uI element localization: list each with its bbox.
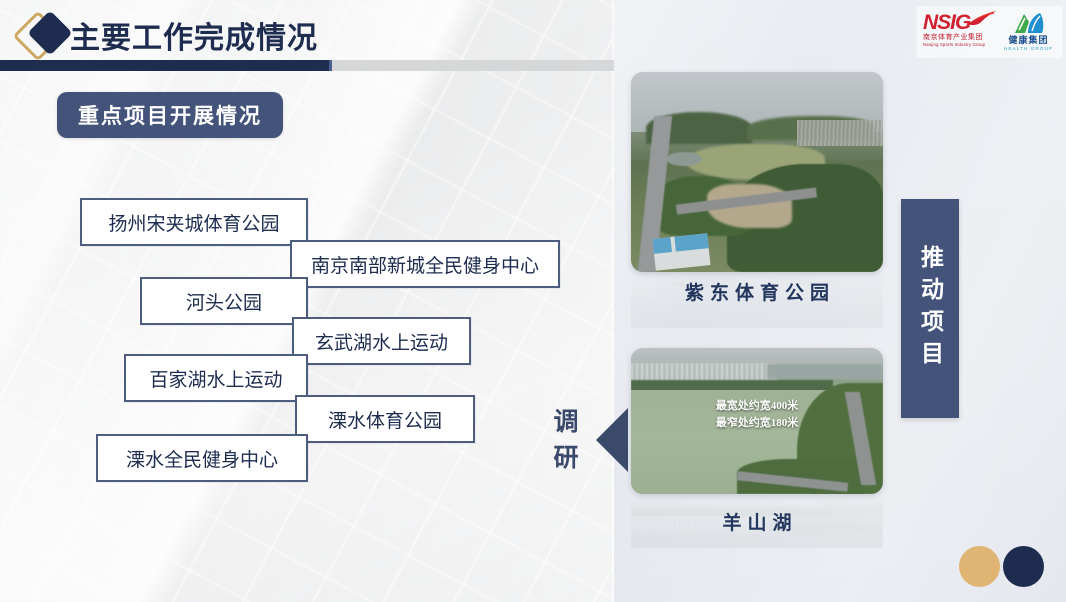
- decor-dot-navy: [1003, 546, 1044, 587]
- nsig-english-name: Nanjing Sports Industry Group: [923, 42, 995, 48]
- logo-bar: NSIG 南京体育产业集团 Nanjing Sports Industry Gr…: [917, 6, 1062, 58]
- project-label-box[interactable]: 溧水体育公园: [295, 395, 475, 443]
- section-subtitle-label: 重点项目开展情况: [78, 100, 262, 130]
- survey-callout-label: 调研: [548, 404, 584, 476]
- health-group-logo: 健康集团 HEALTH GROUP: [1001, 11, 1056, 53]
- health-group-chinese-name: 健康集团: [1001, 35, 1056, 46]
- photo-yangshan-lake: 最宽处约宽400米 最窄处约宽180米: [631, 348, 883, 494]
- slide-header: 主要工作完成情况: [0, 0, 614, 72]
- health-group-mark-icon: [1012, 11, 1046, 35]
- overlay-line-2: 最窄处约宽180米: [631, 415, 883, 432]
- project-label-box[interactable]: 溧水全民健身中心: [96, 434, 308, 482]
- photo-2-caption: 羊山湖: [631, 508, 883, 535]
- project-label-box[interactable]: 南京南部新城全民健身中心: [290, 240, 560, 288]
- nsig-chinese-name: 南京体育产业集团: [923, 33, 995, 42]
- project-label-box[interactable]: 百家湖水上运动: [124, 354, 308, 402]
- chevron-left-icon: [586, 408, 628, 472]
- page-title: 主要工作完成情况: [70, 13, 318, 57]
- decor-dot-gold: [959, 546, 1000, 587]
- project-label-box[interactable]: 扬州宋夹城体育公园: [80, 198, 308, 246]
- panel-divider: [612, 0, 614, 602]
- nsig-logo: NSIG 南京体育产业集团 Nanjing Sports Industry Gr…: [923, 12, 995, 52]
- overlay-line-1: 最宽处约宽400米: [631, 398, 883, 415]
- photo-1-image: [631, 72, 883, 272]
- vertical-tab-promote-projects: 推动项目: [901, 199, 959, 418]
- dragon-swoosh-icon: [967, 10, 997, 26]
- photo-zidong-sports-park: [631, 72, 883, 272]
- diamond-icon: [18, 12, 76, 58]
- photo-1-caption: 紫东体育公园: [631, 278, 883, 305]
- health-group-english-name: HEALTH GROUP: [1001, 46, 1056, 52]
- project-label-box[interactable]: 河头公园: [140, 277, 308, 325]
- vertical-tab-label: 推动项目: [919, 245, 942, 373]
- photo-2-overlay-text: 最宽处约宽400米 最窄处约宽180米: [631, 398, 883, 432]
- header-rule-navy: [0, 60, 332, 71]
- section-subtitle-pill: 重点项目开展情况: [57, 92, 283, 138]
- slide-root: 主要工作完成情况 重点项目开展情况 扬州宋夹城体育公园南京南部新城全民健身中心河…: [0, 0, 1066, 602]
- project-label-box[interactable]: 玄武湖水上运动: [292, 317, 471, 365]
